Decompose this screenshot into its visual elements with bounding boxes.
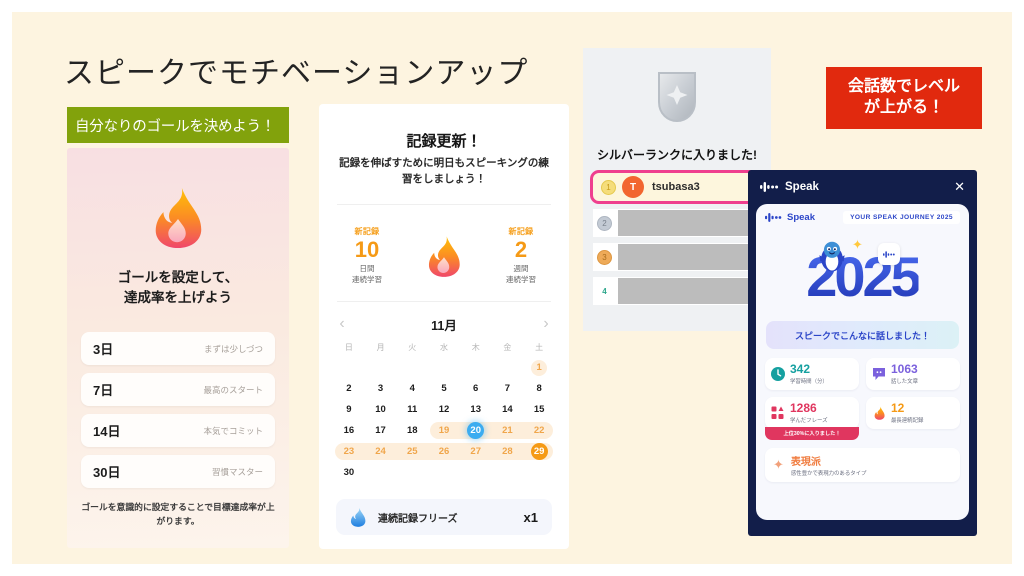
rank-row-2[interactable]: 2 [593, 209, 761, 237]
stat-label: 最長連続記録 [891, 416, 923, 424]
streak-stat-unit-line-1: 週間 [483, 264, 559, 275]
rank-row-3[interactable]: 3 [593, 243, 761, 271]
calendar-header: ‹ 11月 › [333, 312, 555, 336]
calendar-blank-cell [396, 357, 428, 378]
bronze-medal-icon: 3 [597, 250, 612, 265]
calendar-day-19[interactable]: 19 [428, 420, 460, 441]
speak-logo-icon [765, 212, 783, 223]
streak-card: 記録更新！ 記録を伸ばすために明日もスピーキングの練習をしましょう！ 新記録 1… [319, 104, 569, 549]
stat-value: 1286 [790, 402, 827, 415]
avatar: T [622, 176, 644, 198]
calendar-day-28[interactable]: 28 [492, 441, 524, 462]
callout-line-2: が上がる！ [848, 98, 960, 119]
learner-type-card: ✦ 表現派 感性豊かで表現力のあるタイプ [765, 448, 960, 482]
flame-icon [872, 406, 886, 420]
calendar-day-2[interactable]: 2 [333, 378, 365, 399]
gold-medal-icon: 1 [601, 180, 616, 195]
silver-shield-icon [655, 70, 699, 124]
calendar-day-9[interactable]: 9 [333, 399, 365, 420]
streak-stat-value: 2 [483, 238, 559, 262]
calendar-day-1[interactable]: 1 [523, 357, 555, 378]
calendar-day-3[interactable]: 3 [365, 378, 397, 399]
stat-card-sentences: 1063 話した文章 [866, 358, 960, 390]
status-badge: 上位30%に入りました！ [765, 427, 859, 440]
learner-type-title: 表現派 [791, 453, 866, 468]
calendar-weekday: 火 [396, 342, 428, 353]
calendar-blank-cell [460, 357, 492, 378]
calendar-day-22[interactable]: 22 [523, 420, 555, 441]
rank-message: シルバーランクに入りました! [583, 146, 771, 163]
goal-option-desc: 最高のスタート [203, 384, 263, 396]
calendar-month-label: 11月 [431, 315, 457, 334]
goal-option-desc: 習慣マスター [212, 466, 263, 478]
calendar-day-15[interactable]: 15 [523, 399, 555, 420]
rank-list: 1 T tsubasa3 2 3 4 [583, 170, 771, 311]
sparkle-icon: ✦ [773, 457, 784, 473]
hero-illustration: 2025 ✦ [756, 231, 969, 317]
goal-option-7days[interactable]: 7日 最高のスタート [81, 373, 275, 406]
calendar-day-4[interactable]: 4 [396, 378, 428, 399]
flame-icon [427, 235, 461, 277]
callout-line-1: 会話数でレベル [848, 77, 960, 98]
speech-bubble-icon [872, 367, 886, 381]
calendar-day-13[interactable]: 13 [460, 399, 492, 420]
rank-row-4[interactable]: 4 [593, 277, 761, 305]
calendar-day-17[interactable]: 17 [365, 420, 397, 441]
goal-option-days: 14日 [93, 421, 120, 440]
calendar-day-14[interactable]: 14 [492, 399, 524, 420]
streak-freeze-count: x1 [524, 510, 538, 525]
slide-canvas: e O スピークでモチベーションアップ 自分なりのゴールを決めよう！ ゴールを設… [0, 0, 1024, 576]
goal-card: ゴールを設定して、 達成率を上げよう 3日 まずは少しづつ 7日 最高のスタート… [67, 148, 289, 548]
calendar-day-7[interactable]: 7 [492, 378, 524, 399]
stat-label: 学習時間（分） [790, 377, 828, 385]
redacted-bar [618, 278, 757, 304]
calendar-weekday: 日 [333, 342, 365, 353]
flame-icon [152, 186, 204, 248]
calendar-day-27[interactable]: 27 [460, 441, 492, 462]
redacted-bar [618, 244, 757, 270]
goal-option-desc: 本気でコミット [203, 425, 263, 437]
goal-option-14days[interactable]: 14日 本気でコミット [81, 414, 275, 447]
calendar-blank-cell [492, 357, 524, 378]
callout-banner: 会話数でレベル が上がる！ [826, 67, 982, 129]
streak-subtitle: 記録を伸ばすために明日もスピーキングの練習をしましょう！ [335, 156, 553, 188]
calendar-blank-cell [333, 357, 365, 378]
streak-freeze-row[interactable]: 連続記録フリーズ x1 [336, 499, 552, 535]
speak-waveform-icon [878, 243, 900, 265]
blocks-icon [771, 406, 785, 420]
journey-stats-grid: 342 学習時間（分） 1063 話した文章 [765, 358, 960, 429]
streak-stat-value: 10 [329, 238, 405, 262]
calendar-day-11[interactable]: 11 [396, 399, 428, 420]
streak-stat-unit-line-1: 日間 [329, 264, 405, 275]
calendar-day-5[interactable]: 5 [428, 378, 460, 399]
page-title: スピークでモチベーションアップ [64, 48, 528, 92]
close-icon[interactable]: ✕ [954, 179, 965, 195]
journey-pill-label: YOUR SPEAK JOURNEY 2025 [843, 211, 960, 224]
stat-label: 話した文章 [891, 377, 918, 385]
stat-value: 12 [891, 402, 923, 415]
streak-stat-tag: 新記録 [329, 226, 405, 237]
learner-type-subtitle: 感性豊かで表現力のあるタイプ [791, 469, 866, 477]
divider [337, 301, 551, 302]
speak-logo-text: Speak [785, 181, 819, 193]
streak-stat-unit: 日間 連続学習 [329, 264, 405, 286]
section-label-goal: 自分なりのゴールを決めよう！ [67, 107, 289, 143]
stat-value: 342 [790, 363, 828, 376]
clock-icon [771, 367, 785, 381]
goal-option-days: 3日 [93, 339, 113, 358]
goal-option-days: 7日 [93, 380, 113, 399]
redacted-bar [618, 210, 757, 236]
calendar-day-23[interactable]: 23 [333, 441, 365, 462]
goal-heading-line-1: ゴールを設定して、 [67, 268, 289, 288]
phone-topbar: Speak ✕ [748, 170, 977, 204]
rank-number: 4 [597, 284, 612, 299]
goal-heading-line-2: 達成率を上げよう [67, 288, 289, 308]
goal-option-desc: まずは少しづつ [204, 343, 263, 355]
calendar-weekday: 月 [365, 342, 397, 353]
streak-stat-tag: 新記録 [483, 226, 559, 237]
journey-card: Speak YOUR SPEAK JOURNEY 2025 2025 ✦ [756, 204, 969, 520]
calendar-day-8[interactable]: 8 [523, 378, 555, 399]
calendar-day-18[interactable]: 18 [396, 420, 428, 441]
rank-panel: シルバーランクに入りました! 1 T tsubasa3 2 3 4 [583, 48, 771, 331]
streak-stat-days: 新記録 10 日間 連続学習 [329, 226, 405, 286]
stat-value: 1063 [891, 363, 918, 376]
goal-options-list: 3日 まずは少しづつ 7日 最高のスタート 14日 本気でコミット 30日 習慣… [81, 332, 275, 496]
streak-stats-row: 新記録 10 日間 連続学習 新記録 2 週間 連続学習 [329, 216, 559, 296]
stat-label: 学んだフレーズ [790, 416, 827, 424]
streak-stat-weeks: 新記録 2 週間 連続学習 [483, 226, 559, 286]
speak-logo-icon: Speak [760, 181, 819, 193]
rank-user-name: tsubasa3 [652, 181, 700, 193]
calendar-weekday: 金 [492, 342, 524, 353]
calendar-day-26[interactable]: 26 [428, 441, 460, 462]
goal-option-30days[interactable]: 30日 習慣マスター [81, 455, 275, 488]
goal-heading: ゴールを設定して、 達成率を上げよう [67, 268, 289, 307]
divider [337, 204, 551, 205]
calendar-day-16[interactable]: 16 [333, 420, 365, 441]
calendar-day-10[interactable]: 10 [365, 399, 397, 420]
speak-logo-text: Speak [787, 212, 815, 223]
calendar-weekday: 木 [460, 342, 492, 353]
calendar-day-29[interactable]: 29 [523, 441, 555, 462]
chevron-right-icon[interactable]: › [539, 316, 553, 332]
calendar: ‹ 11月 › 日月火水木金土 123456789101112131415161… [333, 312, 555, 483]
goal-footnote: ゴールを意識的に設定することで目標達成率が上がります。 [81, 500, 275, 528]
goal-option-days: 30日 [93, 462, 120, 481]
calendar-day-25[interactable]: 25 [396, 441, 428, 462]
streak-stat-unit-line-2: 連続学習 [483, 275, 559, 286]
stat-card-phrases: 1286 学んだフレーズ 上位30%に入りました！ [765, 397, 859, 429]
talk-banner: スピークでこんなに話しました！ [766, 321, 959, 349]
stat-card-study-time: 342 学習時間（分） [765, 358, 859, 390]
streak-stat-unit-line-2: 連続学習 [329, 275, 405, 286]
rank-row-1-highlighted[interactable]: 1 T tsubasa3 [590, 170, 764, 204]
calendar-blank-cell [365, 357, 397, 378]
calendar-day-24[interactable]: 24 [365, 441, 397, 462]
phone-mockup: Speak ✕ Speak YOUR SPEAK JOURNEY 2025 20… [748, 170, 977, 536]
calendar-day-21[interactable]: 21 [492, 420, 524, 441]
calendar-weekday: 土 [523, 342, 555, 353]
penguin-icon [814, 239, 850, 275]
streak-stat-unit: 週間 連続学習 [483, 264, 559, 286]
calendar-day-20[interactable]: 20 [460, 420, 492, 441]
calendar-day-30[interactable]: 30 [333, 462, 365, 483]
calendar-blank-cell [428, 357, 460, 378]
calendar-day-6[interactable]: 6 [460, 378, 492, 399]
stat-card-longest-streak: 12 最長連続記録 [866, 397, 960, 429]
journey-card-header: Speak YOUR SPEAK JOURNEY 2025 [756, 204, 969, 230]
blue-flame-icon [350, 507, 366, 527]
sparkle-icon: ✦ [852, 237, 863, 253]
goal-option-3days[interactable]: 3日 まずは少しづつ [81, 332, 275, 365]
streak-freeze-label: 連続記録フリーズ [378, 510, 458, 525]
chevron-left-icon[interactable]: ‹ [335, 316, 349, 332]
calendar-day-12[interactable]: 12 [428, 399, 460, 420]
streak-title: 記録更新！ [319, 130, 569, 151]
calendar-weekday: 水 [428, 342, 460, 353]
calendar-day-grid: 1234567891011121314151617181920212223242… [333, 357, 555, 483]
silver-medal-icon: 2 [597, 216, 612, 231]
calendar-weekday-row: 日月火水木金土 [333, 342, 555, 353]
